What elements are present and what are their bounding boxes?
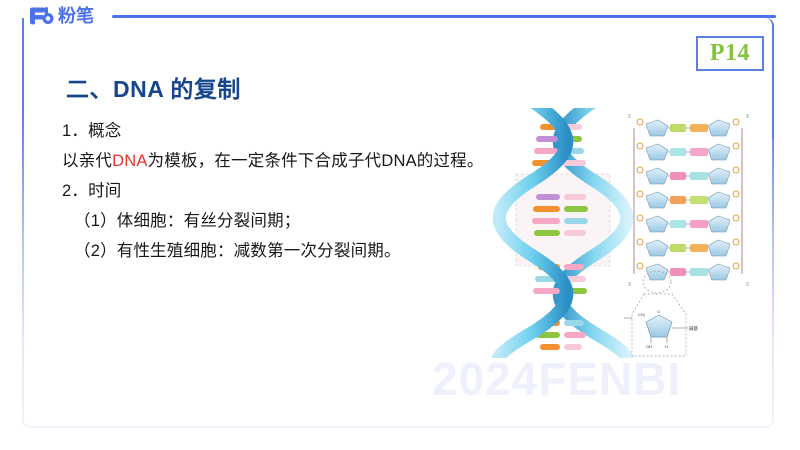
header-divider bbox=[112, 15, 776, 18]
ladder-svg: 5' 3' 3' 5' bbox=[624, 108, 770, 358]
page-number-badge: P14 bbox=[696, 36, 764, 71]
ladder-label-bottom-right: 5' bbox=[746, 283, 750, 288]
slide-body: 1．概念 以亲代DNA为模板，在一定条件下合成子代DNA的过程。 2．时间 （1… bbox=[62, 116, 482, 266]
brand-logo-text: 粉笔 bbox=[58, 6, 94, 26]
body-line-time-heading: 2．时间 bbox=[62, 176, 482, 206]
callout-side-label: 碱基 bbox=[689, 325, 698, 332]
page-number-label: P14 bbox=[710, 40, 750, 66]
watermark-text: 2024FENBI bbox=[432, 352, 681, 406]
definition-highlight: DNA bbox=[112, 152, 147, 170]
deoxyribose-callout: 脱氧核糖 CH₂ O OH H 碱基 bbox=[624, 294, 698, 356]
dna-figure-group: 5' 3' 3' 5' bbox=[488, 108, 770, 358]
body-line-concept-definition: 以亲代DNA为模板，在一定条件下合成子代DNA的过程。 bbox=[62, 146, 482, 176]
ladder-label-top-left: 5' bbox=[628, 115, 632, 120]
ladder-label-bottom-left: 3' bbox=[628, 283, 632, 288]
ladder-rungs bbox=[637, 119, 739, 293]
helix-svg bbox=[488, 108, 638, 358]
callout-atom-h: H bbox=[665, 344, 668, 349]
brand-logo[interactable]: 粉笔 bbox=[28, 6, 94, 26]
body-line-time-item-1: （1）体细胞：有丝分裂间期； bbox=[62, 206, 482, 236]
definition-pre: 以亲代 bbox=[62, 152, 112, 170]
definition-rest: 为模板，在一定条件下合成子代DNA的过程。 bbox=[148, 152, 484, 170]
dna-double-helix-illustration bbox=[488, 108, 638, 358]
dna-base-pair-ladder-diagram: 5' 3' 3' 5' bbox=[624, 108, 770, 358]
body-line-concept-heading: 1．概念 bbox=[62, 116, 482, 146]
ladder-label-top-right: 3' bbox=[746, 115, 750, 120]
body-line-time-item-2: （2）有性生殖细胞：减数第一次分裂间期。 bbox=[62, 236, 482, 266]
callout-atom-ch2: CH₂ bbox=[638, 312, 646, 317]
fenbi-logo-icon bbox=[28, 6, 54, 26]
callout-atom-oh: OH bbox=[646, 344, 652, 349]
page-title: 二、DNA 的复制 bbox=[66, 70, 241, 104]
callout-atom-o: O bbox=[657, 310, 660, 314]
slide-canvas: 粉笔 P14 二、DNA 的复制 2024FENBI 1．概念 以亲代DNA为模… bbox=[0, 0, 800, 450]
